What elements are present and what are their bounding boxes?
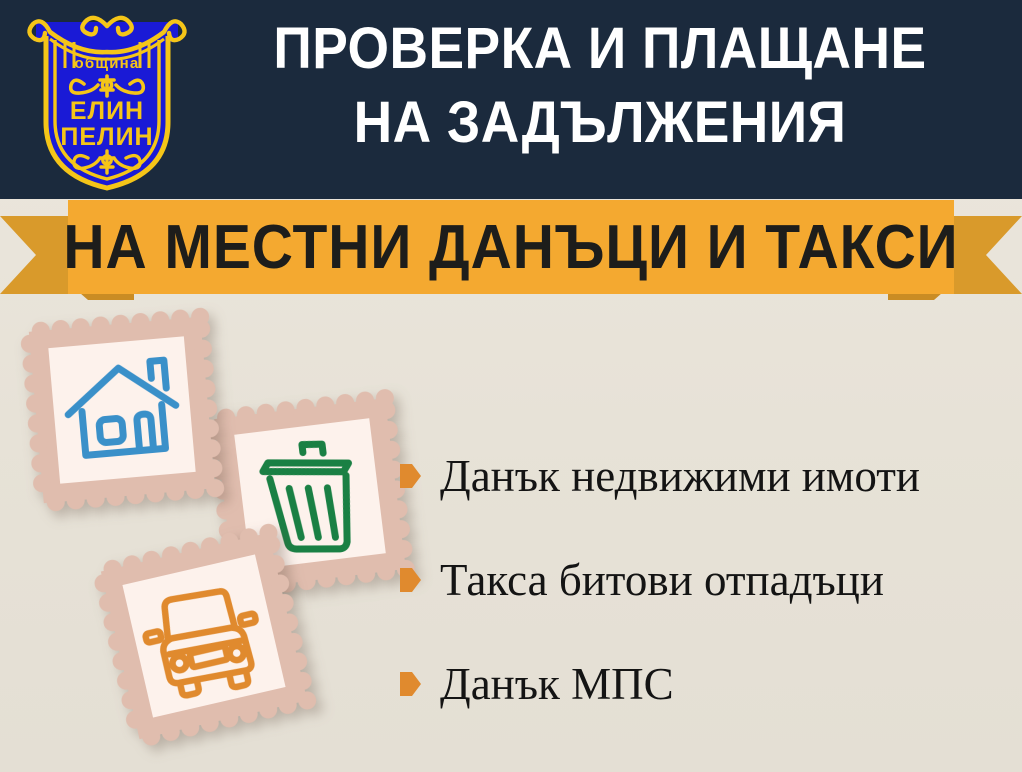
municipality-crest-logo: община ЕЛИН ПЕЛИН	[22, 6, 192, 192]
bullet-arrow-icon	[400, 464, 421, 488]
page-title-line-1: ПРОВЕРКА И ПЛАЩАНЕ	[223, 12, 977, 86]
tax-type-list: Данък недвижими имоти Такса битови отпад…	[400, 424, 1010, 736]
page-title-line-2: НА ЗАДЪЛЖЕНИЯ	[223, 86, 977, 160]
list-item-label: Такса битови отпадъци	[440, 558, 884, 603]
list-item[interactable]: Такса битови отпадъци	[400, 528, 1010, 632]
ribbon-label: НА МЕСТНИ ДАНЪЦИ И ТАКСИ	[103, 200, 918, 294]
ribbon-band: НА МЕСТНИ ДАНЪЦИ И ТАКСИ	[68, 200, 954, 294]
stamp-house	[16, 304, 228, 516]
bullet-arrow-icon	[400, 672, 421, 696]
list-item[interactable]: Данък недвижими имоти	[400, 424, 1010, 528]
list-item-label: Данък МПС	[440, 662, 674, 707]
poster-canvas: ПРОВЕРКА И ПЛАЩАНЕ НА ЗАДЪЛЖЕНИЯ	[0, 0, 1022, 772]
crest-municipality-word: община	[75, 55, 140, 72]
bullet-arrow-icon	[400, 568, 421, 592]
crest-name-line-1: ЕЛИН	[70, 97, 144, 125]
list-item-label: Данък недвижими имоти	[440, 454, 920, 499]
page-title: ПРОВЕРКА И ПЛАЩАНЕ НА ЗАДЪЛЖЕНИЯ	[223, 12, 977, 160]
subtitle-ribbon: НА МЕСТНИ ДАНЪЦИ И ТАКСИ	[0, 196, 1022, 306]
list-item[interactable]: Данък МПС	[400, 632, 1010, 736]
crest-name-line-2: ПЕЛИН	[60, 123, 153, 151]
